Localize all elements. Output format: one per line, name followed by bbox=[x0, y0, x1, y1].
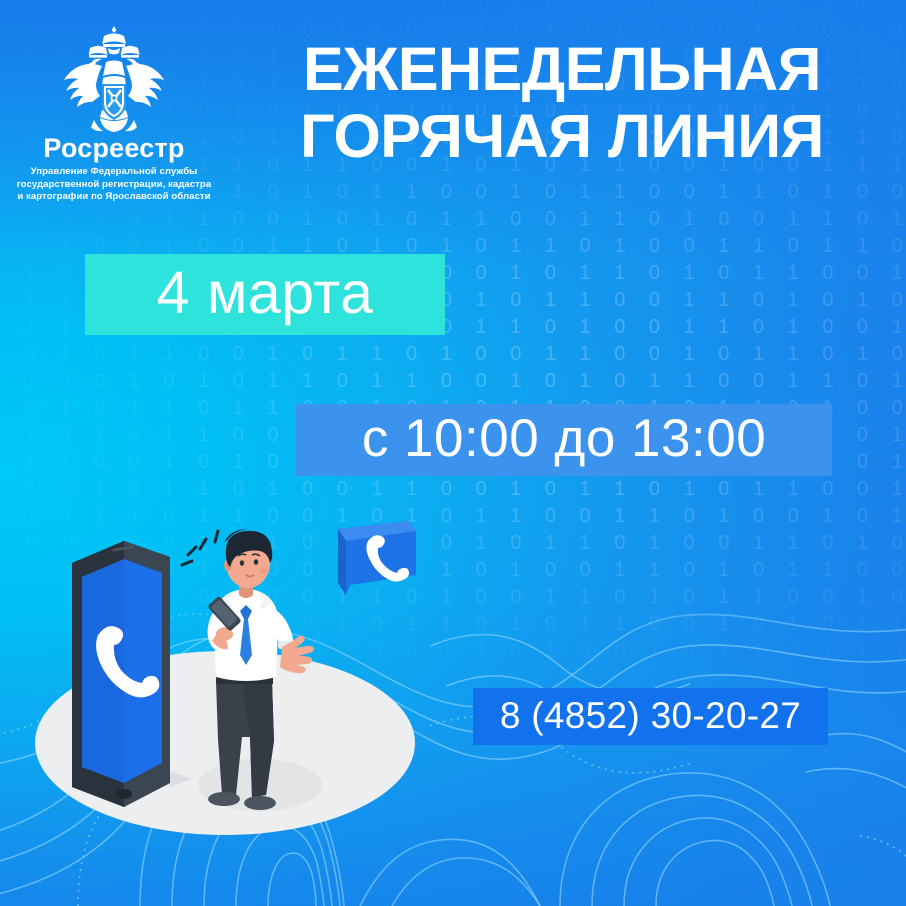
headline-line-1: ЕЖЕНЕДЕЛЬНАЯ bbox=[303, 35, 821, 103]
logo-wordmark: Росреестр bbox=[14, 134, 214, 162]
date-badge: 4 марта bbox=[85, 254, 445, 335]
speech-bubble-phone-icon bbox=[338, 521, 416, 595]
call-center-illustration bbox=[20, 495, 450, 855]
page-title: ЕЖЕНЕДЕЛЬНАЯ ГОРЯЧАЯ ЛИНИЯ bbox=[232, 38, 892, 168]
phone-number-badge: 8 (4852) 30-20-27 bbox=[473, 688, 828, 745]
time-badge: с 10:00 до 13:00 bbox=[296, 404, 832, 476]
rosreestr-logo: Росреестр Управление Федеральной службы … bbox=[14, 22, 214, 203]
logo-subtitle: Управление Федеральной службы государств… bbox=[14, 166, 214, 203]
call-motion-lines bbox=[182, 531, 218, 565]
poster-canvas: 1 0 0 1 0 0 1 1 0 1 0 0 1 0 1 1 0 1 1 1 … bbox=[0, 0, 906, 906]
double-headed-eagle-emblem-icon bbox=[58, 22, 170, 132]
headline-line-2: ГОРЯЧАЯ ЛИНИЯ bbox=[232, 105, 892, 168]
